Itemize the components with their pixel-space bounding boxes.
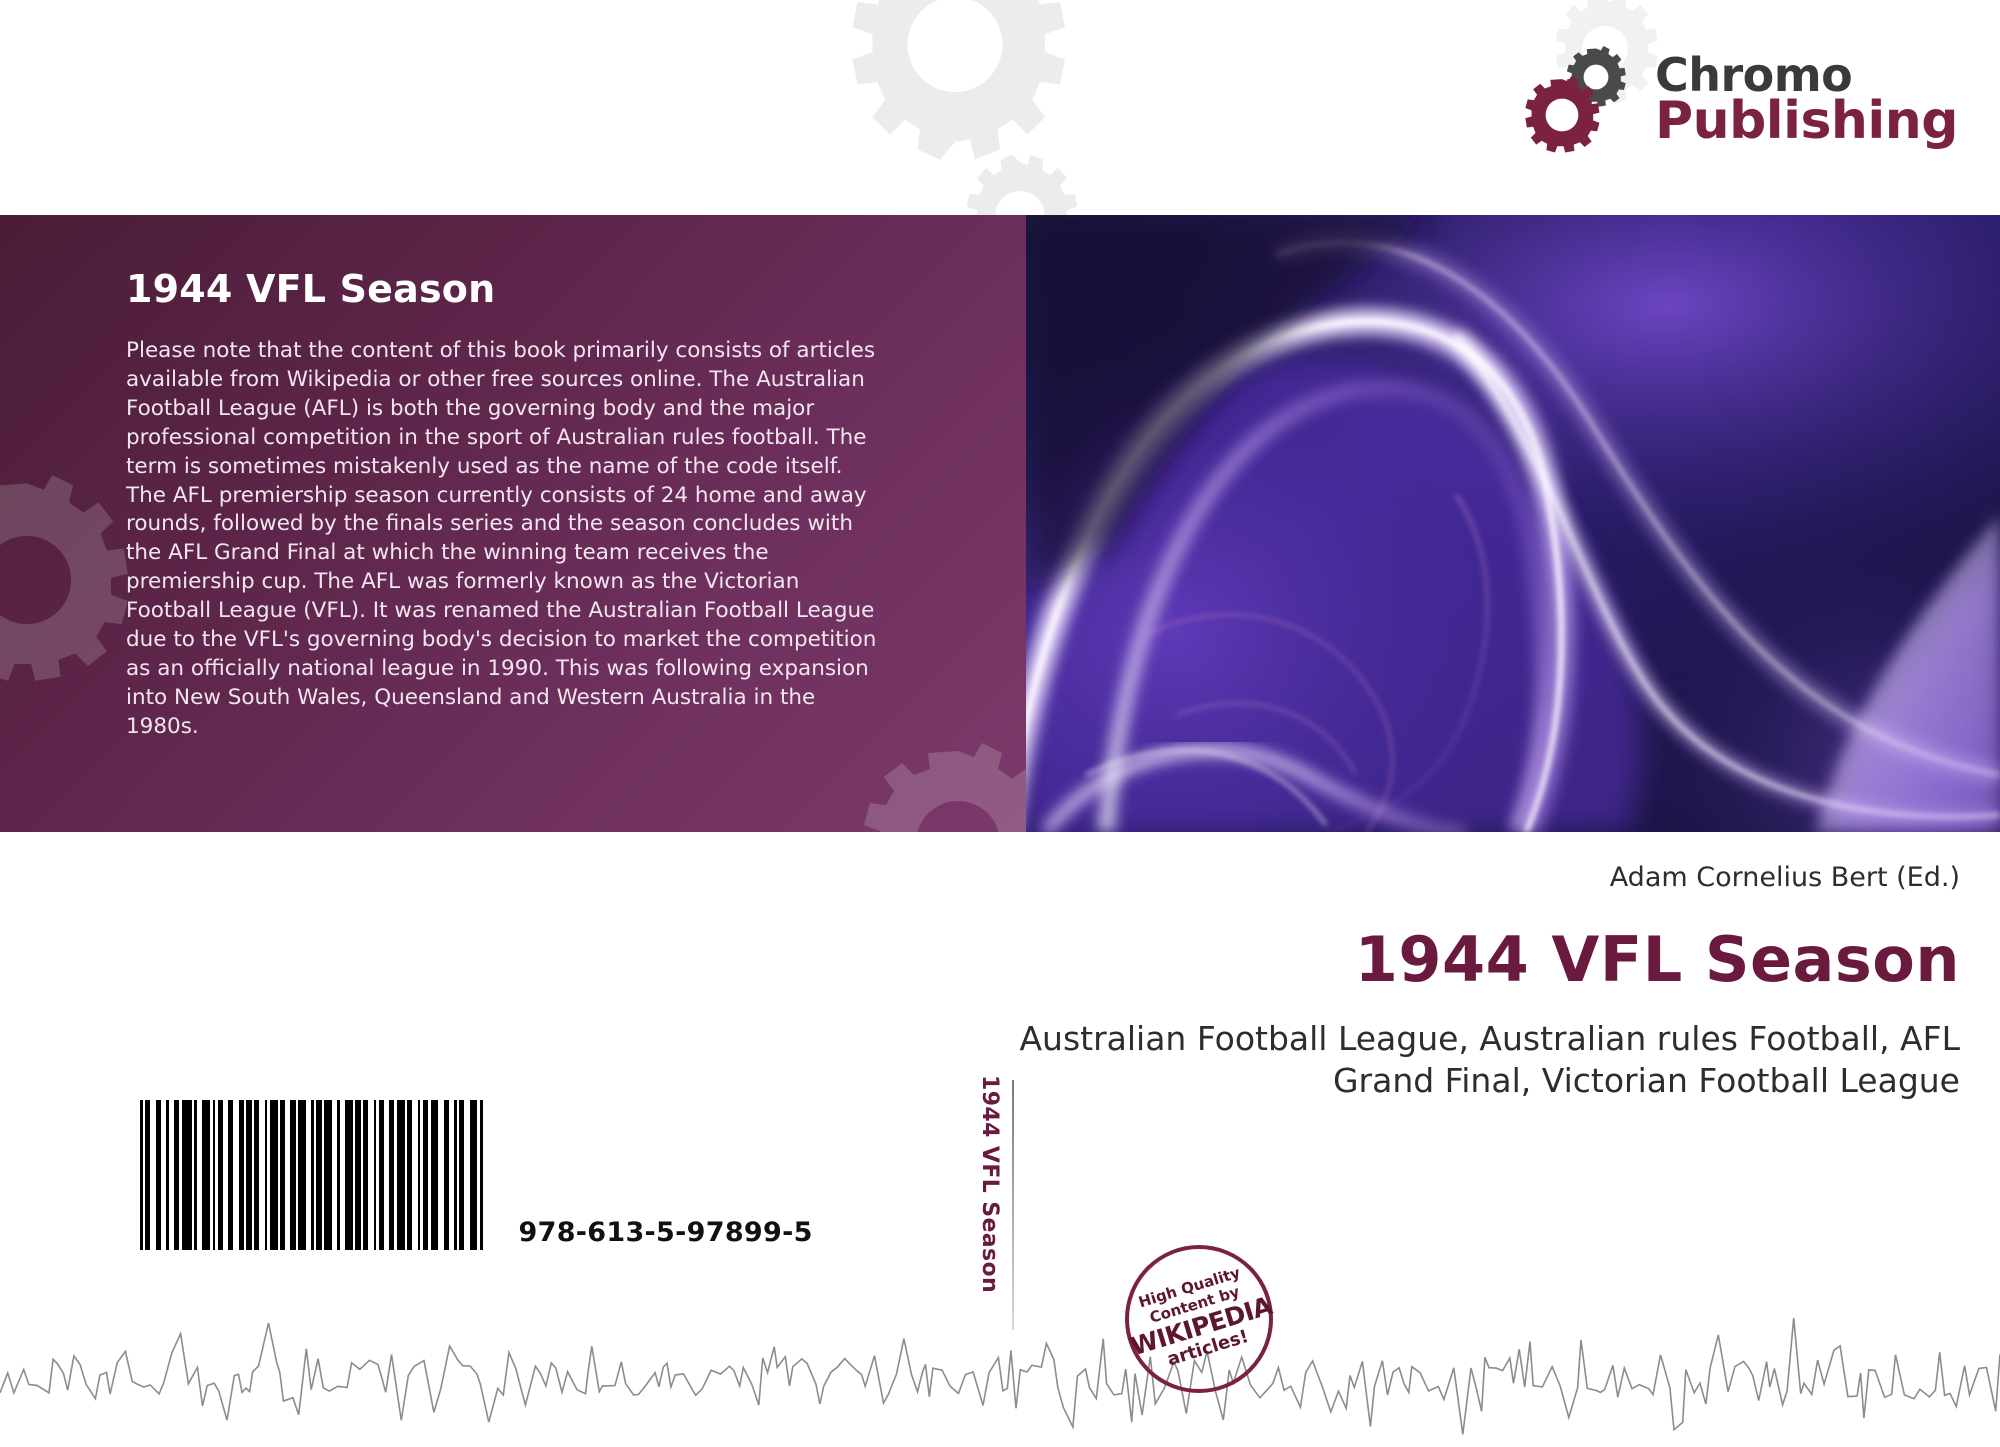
back-cover-panel: 1944 VFL Season Please note that the con… xyxy=(0,215,1026,832)
barcode-area: 978-613-5-97899-5 xyxy=(140,1100,813,1250)
barcode-bar xyxy=(202,1100,210,1250)
stamp-text: High Quality Content by WIKIPEDIA articl… xyxy=(1107,1227,1292,1412)
barcode-bar xyxy=(270,1100,278,1250)
gear-maroon-icon xyxy=(1523,76,1601,154)
barcode-bar xyxy=(298,1100,306,1250)
barcode-bar xyxy=(431,1100,439,1250)
back-cover-title: 1944 VFL Season xyxy=(126,267,964,311)
wikipedia-quality-stamp: High Quality Content by WIKIPEDIA articl… xyxy=(1125,1245,1273,1393)
barcode-bar xyxy=(480,1100,483,1250)
publisher-name-line2: Publishing xyxy=(1655,98,1958,146)
back-cover-gear-watermark xyxy=(858,743,1026,832)
spine-rule xyxy=(1012,1080,1014,1330)
barcode-bar xyxy=(324,1100,332,1250)
isbn-barcode xyxy=(140,1100,483,1250)
background-gear-icon xyxy=(830,0,1080,172)
barcode-bar xyxy=(345,1100,353,1250)
isbn-number: 978-613-5-97899-5 xyxy=(519,1217,813,1250)
barcode-bar xyxy=(182,1100,192,1250)
abstract-fractal-graphic xyxy=(1026,215,2000,832)
barcode-bar xyxy=(397,1100,405,1250)
publisher-name-line1: Chromo xyxy=(1655,54,1958,96)
publisher-logo-gears xyxy=(1529,48,1641,152)
front-cover-artwork xyxy=(1026,215,2000,832)
publisher-logo-text: Chromo Publishing xyxy=(1655,54,1958,146)
cover-subtitle: Australian Football League, Australian r… xyxy=(920,1018,1960,1102)
decorative-waveform xyxy=(0,1297,2000,1447)
cover-title: 1944 VFL Season xyxy=(920,927,1960,992)
publisher-logo: Chromo Publishing xyxy=(1529,48,1958,152)
back-cover-blurb: Please note that the content of this boo… xyxy=(126,337,886,742)
editor-name: Adam Cornelius Bert (Ed.) xyxy=(920,862,1960,893)
spine-title: 1944 VFL Season xyxy=(977,1075,1002,1293)
barcode-bar xyxy=(470,1100,478,1250)
front-cover-text-block: Adam Cornelius Bert (Ed.) 1944 VFL Seaso… xyxy=(920,862,1960,1103)
